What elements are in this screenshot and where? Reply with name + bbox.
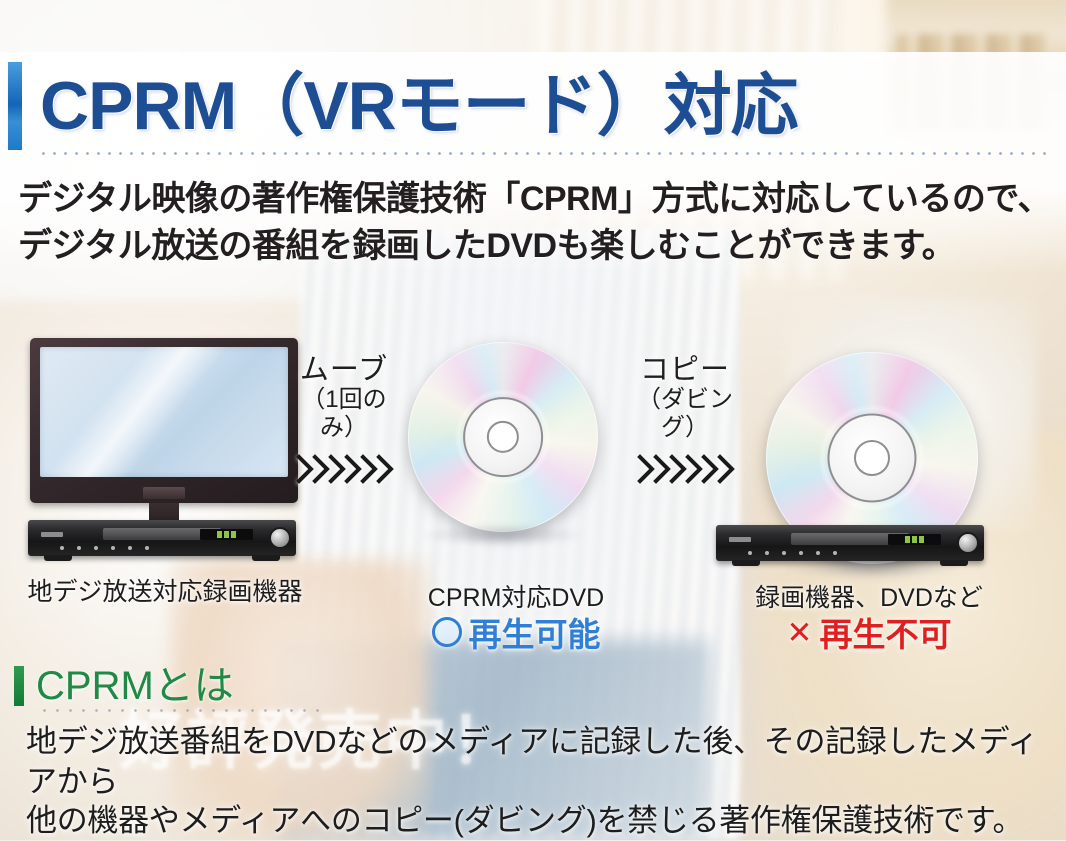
page-title: CPRM（VRモード）対応 <box>8 62 798 150</box>
recorder-buttons <box>748 551 837 555</box>
cprm-definition-heading: CPRMとは <box>14 666 234 706</box>
lead-line-2: デジタル放送の番組を録画したDVDも楽しむことができます。 <box>18 223 1058 270</box>
recorder-button <box>94 546 98 550</box>
lead-line-1: デジタル映像の著作権保護技術「CPRM」方式に対応しているので、 <box>18 176 1058 223</box>
recorder-button <box>60 546 64 550</box>
recorder-button <box>816 551 820 555</box>
recorder-display <box>888 534 942 546</box>
copy-arrow-label: コピー <box>620 354 750 386</box>
center-verdict-text: 再生可能 <box>469 608 601 656</box>
recorder-button <box>77 546 81 550</box>
definition-line-2: 他の機器やメディアへのコピー(ダビング)を禁じる著作権保護技術です。 <box>26 801 1056 841</box>
recorder-buttons <box>60 546 149 550</box>
recorder-button <box>128 546 132 550</box>
target-verdict-text: 再生不可 <box>819 608 951 656</box>
recorder-foot <box>940 560 968 566</box>
recorder-button <box>833 551 837 555</box>
title-text: CPRM（VRモード）対応 <box>40 72 798 140</box>
source-device-caption: 地デジ放送対応録画機器 <box>20 572 310 608</box>
recorder-button <box>145 546 149 550</box>
recorder-icon-left <box>28 520 296 556</box>
recorder-button <box>782 551 786 555</box>
copy-arrow-sublabel: （ダビング） <box>620 386 750 441</box>
recorder-feet <box>44 555 280 561</box>
subheading-dotted-rule <box>38 709 328 712</box>
recorder-icon-right <box>716 525 984 561</box>
recorder-display-segment <box>905 536 910 543</box>
copy-chevrons <box>620 454 750 484</box>
recorder-badge <box>729 537 751 542</box>
move-arrow-sublabel: （1回のみ） <box>284 386 404 441</box>
target-verdict: ✕ 再生不可 <box>740 608 998 656</box>
move-chevrons <box>284 454 404 484</box>
move-arrow-label: ムーブ <box>284 354 404 386</box>
chevron-right-icon <box>717 454 737 484</box>
cprm-dvd-disc <box>408 342 598 532</box>
recorder-foot <box>252 555 280 561</box>
recorder-display-segment <box>919 536 924 543</box>
recorder-button <box>765 551 769 555</box>
tv-logo-plate <box>143 487 186 499</box>
recorder-foot <box>44 555 72 561</box>
recorder-badge <box>41 532 63 537</box>
chevron-right-icon <box>376 454 396 484</box>
recorder-display-segment <box>217 531 222 538</box>
recorder-display-segment <box>231 531 236 538</box>
cprm-definition-body: 地デジ放送番組をDVDなどのメディアに記録した後、その記録したメディアから 他の… <box>26 722 1056 841</box>
circle-ok-icon <box>432 617 462 647</box>
television-icon <box>30 338 298 503</box>
recorder-feet <box>732 560 968 566</box>
recorder-foot <box>732 560 760 566</box>
cross-ng-icon: ✕ <box>787 617 813 648</box>
recorder-display-segment <box>224 531 229 538</box>
subheading-text: CPRMとは <box>36 666 234 706</box>
center-verdict: 再生可能 <box>398 608 634 656</box>
recorder-button <box>111 546 115 550</box>
move-arrow-group: ムーブ （1回のみ） <box>284 354 404 484</box>
recorder-display <box>200 529 254 541</box>
tv-screen <box>40 347 288 477</box>
title-accent-bar <box>8 62 22 150</box>
recorder-button <box>799 551 803 555</box>
definition-line-1: 地デジ放送番組をDVDなどのメディアに記録した後、その記録したメディアから <box>26 722 1056 801</box>
lead-paragraph: デジタル映像の著作権保護技術「CPRM」方式に対応しているので、 デジタル放送の… <box>18 176 1058 270</box>
disc-shadow <box>419 524 586 546</box>
recorder-button <box>748 551 752 555</box>
subheading-accent-bar <box>14 666 24 706</box>
title-dotted-rule <box>38 152 1048 155</box>
disc-center-hole <box>854 440 890 476</box>
tv-screen-glare <box>40 347 288 477</box>
copy-arrow-group: コピー （ダビング） <box>620 354 750 484</box>
recorder-display-segment <box>912 536 917 543</box>
